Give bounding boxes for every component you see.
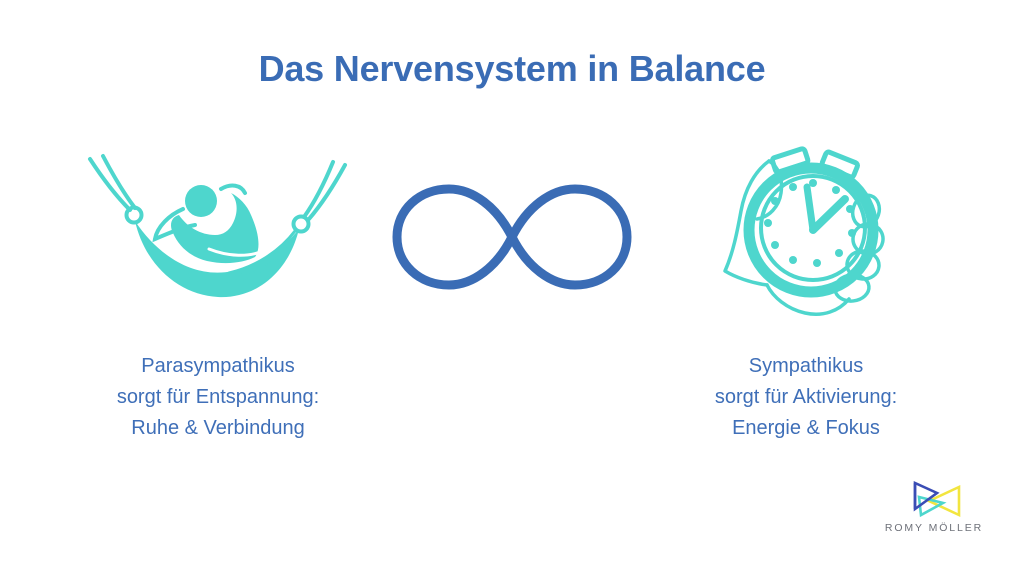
logo-triangle-teal — [919, 497, 943, 515]
page-title: Das Nervensystem in Balance — [0, 48, 1024, 90]
infinity-path — [397, 189, 627, 285]
logo-wordmark: ROMY MÖLLER — [882, 522, 986, 534]
caption-line-1: Sympathikus — [636, 351, 976, 382]
caption-line-1: Parasympathikus — [48, 351, 388, 382]
hand-holding-stopwatch-icon — [711, 145, 901, 320]
caption-sympathetic: Sympathikus sorgt für Aktivierung: Energ… — [636, 351, 976, 444]
hammock-art-wrap — [48, 150, 388, 315]
caption-line-3: Ruhe & Verbindung — [48, 413, 388, 444]
stopwatch-hour-hand — [807, 187, 813, 230]
column-sympathetic: Sympathikus sorgt für Aktivierung: Energ… — [636, 150, 976, 444]
infinity-symbol-icon — [387, 177, 637, 297]
brand-logo: ROMY MÖLLER — [882, 479, 986, 534]
column-parasympathetic: Parasympathikus sorgt für Entspannung: R… — [48, 150, 388, 444]
stopwatch-minute-hand — [813, 199, 845, 230]
caption-parasympathetic: Parasympathikus sorgt für Entspannung: R… — [48, 351, 388, 444]
person-in-hammock-icon — [83, 153, 353, 313]
slide-canvas: Das Nervensystem in Balance — [0, 0, 1024, 576]
stopwatch-art-wrap — [636, 150, 976, 315]
person-head — [185, 185, 217, 217]
caption-line-2: sorgt für Aktivierung: — [636, 382, 976, 413]
romy-moeller-logo-mark-icon — [905, 479, 963, 519]
person-arm-upper — [221, 185, 245, 192]
caption-line-2: sorgt für Entspannung: — [48, 382, 388, 413]
column-balance — [342, 150, 682, 351]
caption-line-3: Energie & Fokus — [636, 413, 976, 444]
infinity-art-wrap — [342, 150, 682, 315]
